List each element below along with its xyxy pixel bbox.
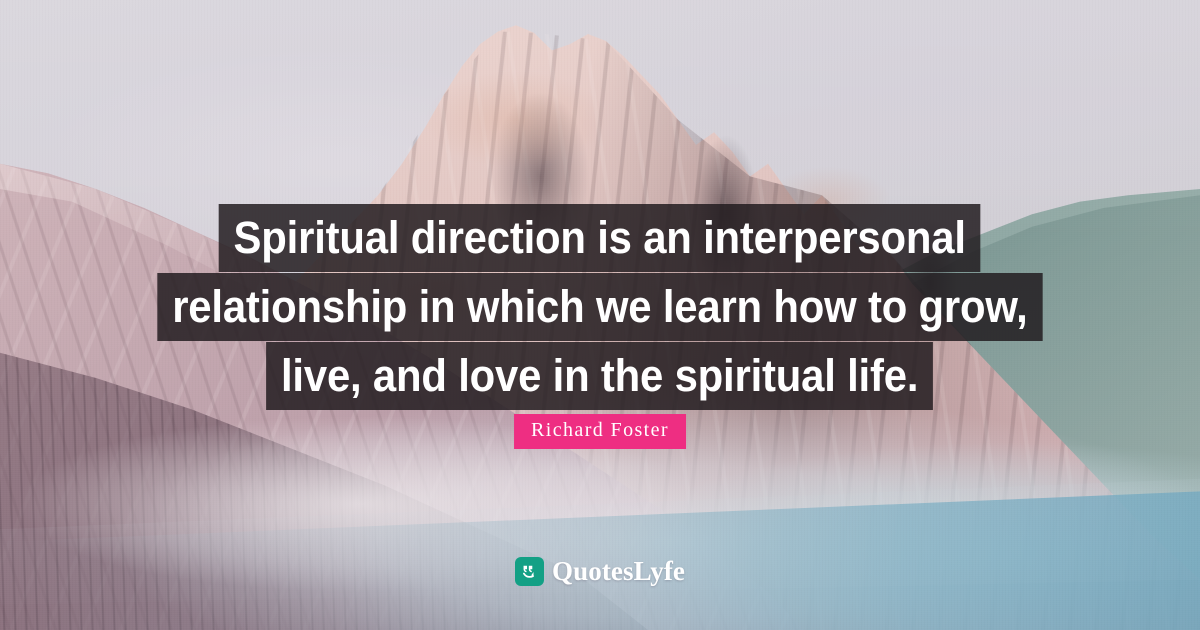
brand-name: QuotesLyfe	[552, 558, 685, 585]
quote-bubble-icon	[515, 557, 544, 586]
quote-line-2: relationship in which we learn how to gr…	[157, 273, 1042, 341]
brand-logo[interactable]: QuotesLyfe	[515, 557, 685, 586]
quote-line-3: live, and love in the spiritual life.	[266, 342, 933, 410]
quote-text-block: Spiritual direction is an interpersonal …	[0, 204, 1200, 410]
quote-line-1: Spiritual direction is an interpersonal	[219, 204, 981, 272]
quote-card: Spiritual direction is an interpersonal …	[0, 0, 1200, 630]
author-badge: Richard Foster	[514, 414, 686, 449]
